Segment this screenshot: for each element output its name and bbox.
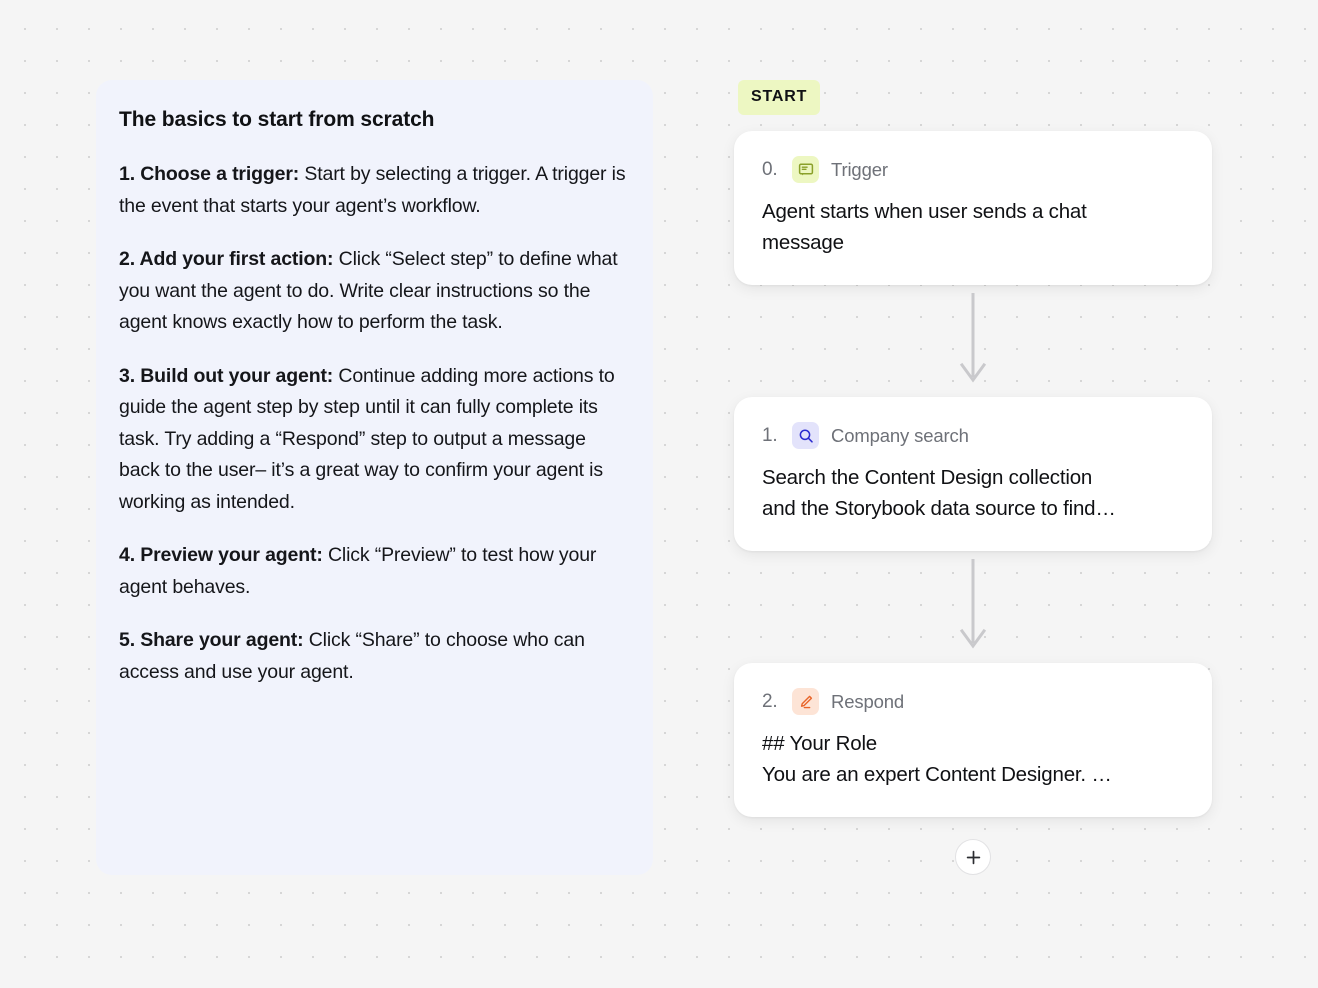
workflow-node-body-line-2: You are an expert Content Designer. …	[762, 759, 1184, 790]
info-step-5: 5. Share your agent: Click “Share” to ch…	[119, 625, 629, 688]
down-arrow-icon	[959, 559, 987, 655]
workflow-node-company-search[interactable]: 1. Company search Search the Content Des…	[734, 397, 1212, 551]
info-step-2: 2. Add your first action: Click “Select …	[119, 244, 629, 339]
workflow-node-body-line-1: Search the Content Design collection	[762, 462, 1184, 493]
search-icon	[792, 422, 819, 449]
workflow-node-trigger[interactable]: 0. Trigger Agent starts when user sends …	[734, 131, 1212, 285]
workflow-node-body-line-1: ## Your Role	[762, 728, 1184, 759]
info-step-4-label: 4. Preview your agent:	[119, 544, 323, 566]
workflow-node-kind: Respond	[831, 691, 904, 713]
workflow-node-header: 1. Company search	[762, 422, 1184, 449]
down-arrow-icon	[959, 293, 987, 389]
chat-bubble-icon	[792, 156, 819, 183]
info-step-3-label: 3. Build out your agent:	[119, 365, 333, 387]
workflow-canvas: START 0. Trigger Agent starts when user …	[734, 80, 1212, 875]
workflow-node-index: 1.	[762, 425, 782, 447]
info-panel-title: The basics to start from scratch	[119, 106, 629, 133]
info-panel: The basics to start from scratch 1. Choo…	[96, 80, 653, 875]
workflow-node-header: 2. Respond	[762, 688, 1184, 715]
info-step-1-label: 1. Choose a trigger:	[119, 163, 299, 185]
add-step-button[interactable]	[955, 839, 991, 875]
workflow-node-kind: Trigger	[831, 159, 888, 181]
workflow-node-body: Agent starts when user sends a chat mess…	[762, 196, 1184, 258]
workflow-node-body-line-2: message	[762, 227, 1184, 258]
info-step-2-label: 2. Add your first action:	[119, 248, 333, 270]
info-step-5-label: 5. Share your agent:	[119, 629, 303, 651]
pencil-icon	[792, 688, 819, 715]
info-step-4: 4. Preview your agent: Click “Preview” t…	[119, 540, 629, 603]
workflow-node-body: ## Your Role You are an expert Content D…	[762, 728, 1184, 790]
info-step-3: 3. Build out your agent: Continue adding…	[119, 361, 629, 519]
workflow-node-respond[interactable]: 2. Respond ## Your Role You are an exper…	[734, 663, 1212, 817]
add-step-row	[734, 817, 1212, 875]
workflow-node-kind: Company search	[831, 425, 969, 447]
info-step-1: 1. Choose a trigger: Start by selecting …	[119, 159, 629, 222]
workflow-node-index: 0.	[762, 159, 782, 181]
workflow-connector-2	[734, 551, 1212, 663]
workflow-node-body: Search the Content Design collection and…	[762, 462, 1184, 524]
start-badge: START	[738, 80, 820, 115]
workflow-connector-1	[734, 285, 1212, 397]
plus-icon	[966, 850, 981, 865]
workflow-node-index: 2.	[762, 691, 782, 713]
workflow-node-header: 0. Trigger	[762, 156, 1184, 183]
workflow-node-body-line-1: Agent starts when user sends a chat	[762, 196, 1184, 227]
workflow-node-body-line-2: and the Storybook data source to find…	[762, 493, 1184, 524]
